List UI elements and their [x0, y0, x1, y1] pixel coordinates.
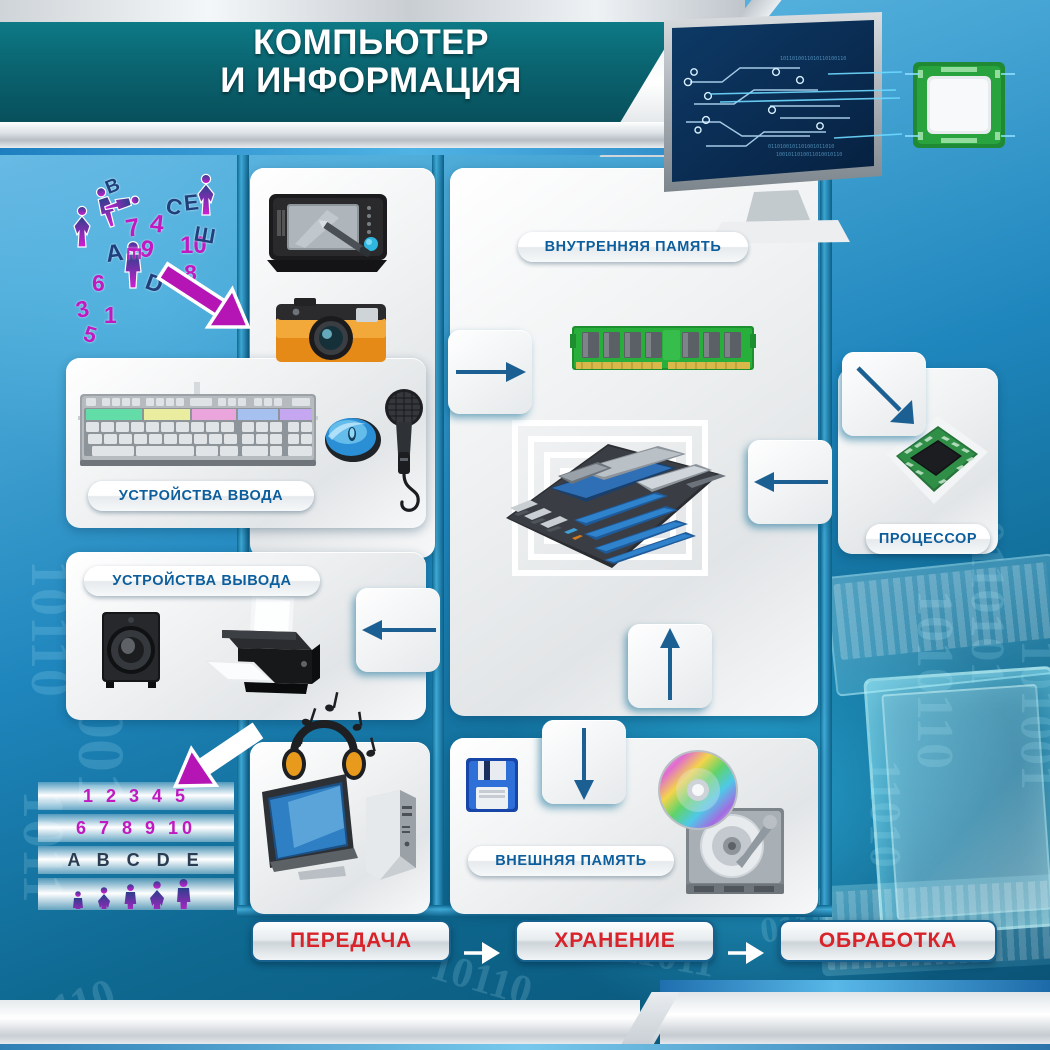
arrow-down-icon: [542, 720, 626, 804]
arrow-tile-processor-to-memory: [748, 440, 832, 524]
system-unit-icon: [360, 786, 422, 884]
hero-monitor-icon: 1011010011010110100110 01101001011010010…: [650, 6, 910, 256]
external-memory-label-text: ВНЕШНЯЯ ПАМЯТЬ: [495, 853, 647, 869]
chaos-number: 4: [149, 209, 166, 239]
page-title: КОМПЬЮТЕР И ИНФОРМАЦИЯ: [0, 24, 742, 100]
ordered-row: [38, 878, 234, 910]
arrow-chaos-to-input: [150, 258, 260, 343]
footer-bottom-edge: [0, 1044, 1050, 1050]
input-devices-label: УСТРОЙСТВА ВВОДА: [88, 481, 314, 511]
ordered-row-text: A B C D E: [67, 850, 204, 871]
printer-icon: [196, 592, 322, 702]
header-blue-underline: [0, 148, 690, 155]
process-step-label: ОБРАБОТКА: [819, 929, 957, 953]
ordered-people-icons: [66, 879, 206, 909]
process-separator-arrow-1: [726, 932, 768, 974]
ordered-row-text: 6 7 8 9 10: [76, 818, 196, 839]
input-devices-label-text: УСТРОЙСТВА ВВОДА: [119, 488, 283, 504]
header-bottom-silver-strip: [0, 122, 700, 148]
page-title-line1: КОМПЬЮТЕР: [253, 23, 489, 62]
arrow-tile-memory-to-processor: [842, 352, 926, 436]
header-top-silver-strip: [0, 0, 745, 22]
hero-cpu-socket-icon: [905, 56, 1015, 156]
motherboard-icon: [490, 410, 736, 590]
arrow-tile-memory-to-output: [356, 588, 440, 672]
output-devices-label: УСТРОЙСТВА ВЫВОДА: [84, 566, 320, 596]
arrow-tile-input-to-memory: [448, 330, 532, 414]
footer-silver-right: [660, 992, 1050, 1046]
svg-text:1011010011010110100110: 1011010011010110100110: [780, 56, 846, 62]
arrow-left-icon: [356, 588, 440, 672]
keyboard-icon: [78, 382, 318, 474]
processor-label: ПРОЦЕССОР: [866, 524, 990, 554]
chaos-number: 6: [92, 270, 105, 297]
svg-text:0110100101101001011010: 0110100101101001011010: [768, 144, 834, 150]
process-step-label: ПЕРЕДАЧА: [290, 929, 412, 953]
process-separator-arrow-0: [462, 932, 504, 974]
internal-memory-label: ВНУТРЕННЯЯ ПАМЯТЬ: [518, 232, 748, 262]
poster-root: 10110 01001 1011 0110 10110 011011 10101…: [0, 0, 1050, 1050]
process-step-button-1[interactable]: ХРАНЕНИЕ: [515, 920, 715, 962]
chaos-letter: E: [183, 189, 200, 216]
speaker-icon: [98, 608, 164, 690]
internal-memory-label-text: ВНУТРЕННЯЯ ПАМЯТЬ: [545, 239, 722, 255]
output-devices-label-text: УСТРОЙСТВА ВЫВОДА: [112, 573, 291, 589]
graphics-tablet-icon: [265, 188, 393, 278]
footer-silver-left: [0, 1000, 640, 1046]
external-memory-label: ВНЕШНЯЯ ПАМЯТЬ: [468, 846, 674, 876]
arrow-up-icon: [628, 624, 712, 708]
svg-text:1001011010011010010110: 1001011010011010010110: [776, 152, 842, 158]
floppy-disk-icon: [464, 756, 520, 814]
arrow-left-icon: [748, 440, 832, 524]
ordered-row: 6 7 8 9 10: [38, 814, 234, 842]
processor-label-text: ПРОЦЕССОР: [879, 531, 977, 547]
chaos-number: 1: [104, 302, 117, 329]
ram-module-icon: [570, 318, 756, 380]
chaos-letter-v: E: [121, 246, 144, 260]
arrow-tile-memory-to-external: [542, 720, 626, 804]
page-title-line2: И ИНФОРМАЦИЯ: [0, 62, 742, 100]
camera-icon: [272, 288, 390, 368]
optical-disc-icon: [656, 748, 740, 832]
process-step-label: ХРАНЕНИЕ: [554, 929, 675, 953]
arrow-right-icon: [448, 330, 532, 414]
ordered-row: A B C D E: [38, 846, 234, 874]
divider-bar-right: [820, 155, 832, 915]
microphone-icon: [374, 384, 434, 524]
chaos-letter: Ш: [192, 222, 217, 249]
arrow-down-right-icon: [842, 352, 926, 436]
footer-blue-line: [660, 980, 1050, 992]
arrow-tile-external-memory-up: [628, 624, 712, 708]
arrow-output-to-ordered: [160, 712, 270, 802]
process-step-button-0[interactable]: ПЕРЕДАЧА: [251, 920, 451, 962]
chaos-number: 5: [81, 321, 100, 349]
process-step-button-2[interactable]: ОБРАБОТКА: [779, 920, 997, 962]
headphones-icon: [274, 690, 384, 786]
